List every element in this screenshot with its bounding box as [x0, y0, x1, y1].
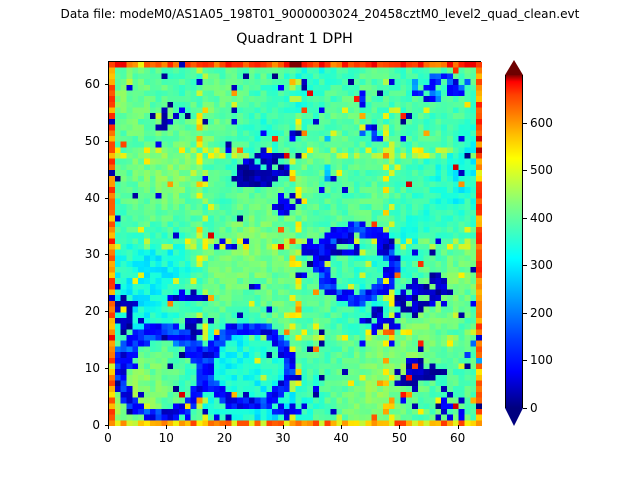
x-tick — [108, 425, 109, 429]
y-tick — [105, 425, 109, 426]
matplotlib-figure: Data file: modeM0/AS1A05_198T01_90000030… — [0, 0, 640, 480]
x-tick-label: 30 — [275, 431, 290, 445]
y-tick — [105, 254, 109, 255]
colorbar-tick-label: 400 — [530, 211, 553, 225]
colorbar-tick — [523, 218, 527, 219]
y-tick-label: 30 — [68, 247, 100, 261]
y-tick-label: 50 — [68, 134, 100, 148]
colorbar-tick — [523, 408, 527, 409]
colorbar-tick — [523, 265, 527, 266]
y-tick-label: 60 — [68, 77, 100, 91]
dph-heatmap-axes — [108, 61, 481, 425]
y-tick-label: 40 — [68, 191, 100, 205]
colorbar-tick-label: 500 — [530, 163, 553, 177]
colorbar-tick-label: 100 — [530, 353, 553, 367]
colorbar-tick — [523, 360, 527, 361]
colorbar-tick-label: 600 — [530, 116, 553, 130]
x-tick-label: 0 — [104, 431, 112, 445]
x-tick — [166, 425, 167, 429]
y-tick-label: 0 — [68, 418, 100, 432]
y-tick — [105, 311, 109, 312]
y-tick — [105, 141, 109, 142]
colorbar: 0100200300400500600 — [505, 60, 523, 426]
dph-heatmap-image — [109, 62, 482, 426]
colorbar-over-arrow — [505, 60, 523, 75]
x-tick — [458, 425, 459, 429]
y-tick — [105, 84, 109, 85]
x-tick — [399, 425, 400, 429]
data-file-label: Data file: modeM0/AS1A05_198T01_90000030… — [0, 7, 640, 21]
colorbar-tick-label: 0 — [530, 401, 538, 415]
colorbar-gradient — [505, 75, 523, 408]
x-tick-label: 10 — [159, 431, 174, 445]
x-tick-label: 60 — [450, 431, 465, 445]
x-tick-label: 50 — [392, 431, 407, 445]
colorbar-tick — [523, 313, 527, 314]
y-tick-label: 10 — [68, 361, 100, 375]
colorbar-under-arrow — [505, 408, 523, 426]
y-tick — [105, 368, 109, 369]
x-tick — [283, 425, 284, 429]
x-tick-label: 40 — [333, 431, 348, 445]
x-tick-label: 20 — [217, 431, 232, 445]
colorbar-tick-label: 200 — [530, 306, 553, 320]
colorbar-tick — [523, 170, 527, 171]
x-tick — [341, 425, 342, 429]
x-tick — [225, 425, 226, 429]
y-tick — [105, 198, 109, 199]
colorbar-tick — [523, 123, 527, 124]
y-tick-label: 20 — [68, 304, 100, 318]
plot-title: Quadrant 1 DPH — [108, 31, 481, 48]
colorbar-tick-label: 300 — [530, 258, 553, 272]
